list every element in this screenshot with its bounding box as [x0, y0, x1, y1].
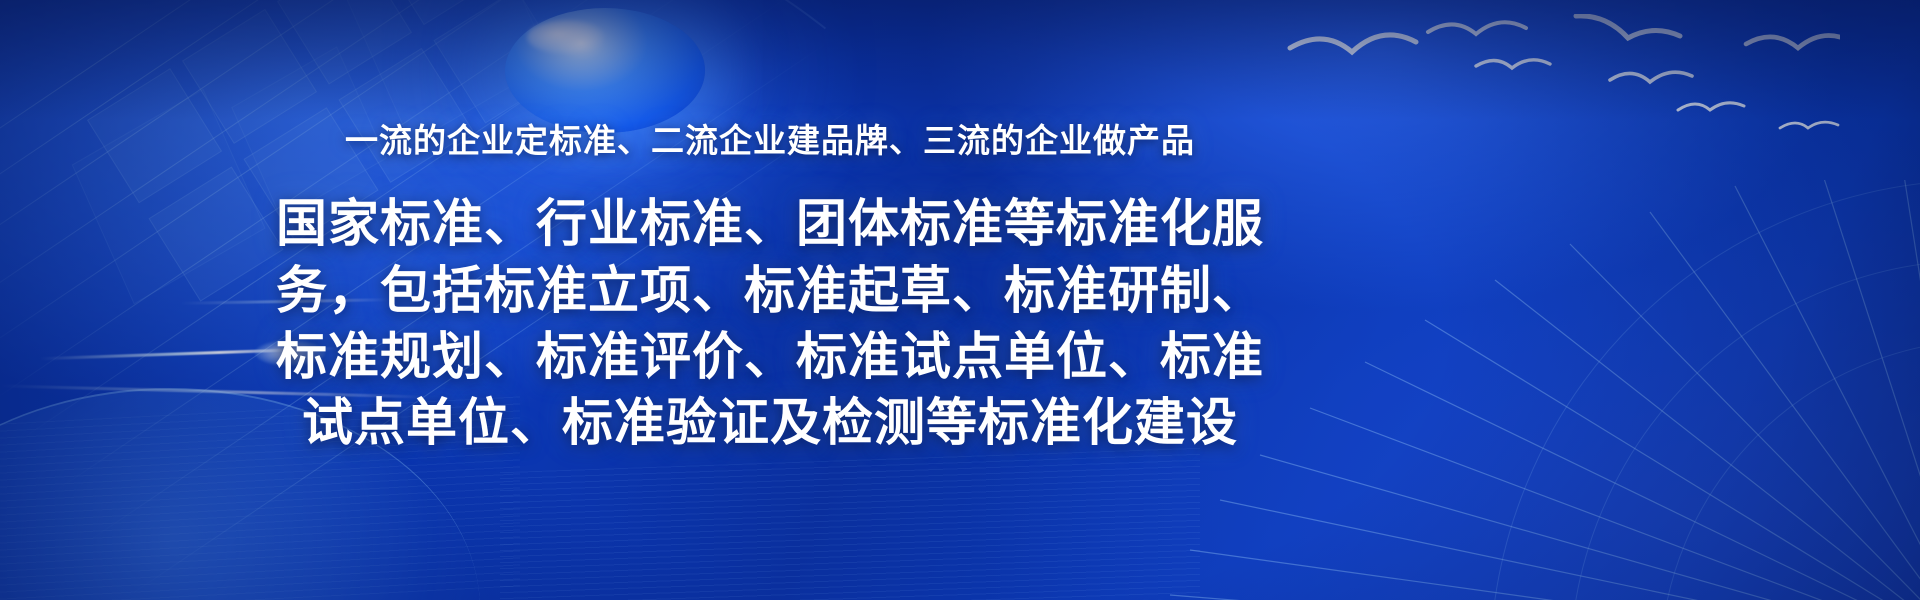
headline-line-4: 试点单位、标准验证及检测等标准化建设	[120, 390, 1420, 456]
banner-content: 一流的企业定标准、二流企业建品牌、三流的企业做产品 国家标准、行业标准、团体标准…	[0, 0, 1540, 456]
headline-line-3: 标准规划、标准评价、标准试点单位、标准	[120, 324, 1420, 390]
banner-tagline: 一流的企业定标准、二流企业建品牌、三流的企业做产品	[0, 120, 1540, 161]
banner-headline: 国家标准、行业标准、团体标准等标准化服 务，包括标准立项、标准起草、标准研制、 …	[0, 191, 1540, 456]
promo-banner: 一流的企业定标准、二流企业建品牌、三流的企业做产品 国家标准、行业标准、团体标准…	[0, 0, 1920, 600]
headline-line-1: 国家标准、行业标准、团体标准等标准化服	[120, 191, 1420, 257]
headline-line-2: 务，包括标准立项、标准起草、标准研制、	[120, 258, 1420, 324]
